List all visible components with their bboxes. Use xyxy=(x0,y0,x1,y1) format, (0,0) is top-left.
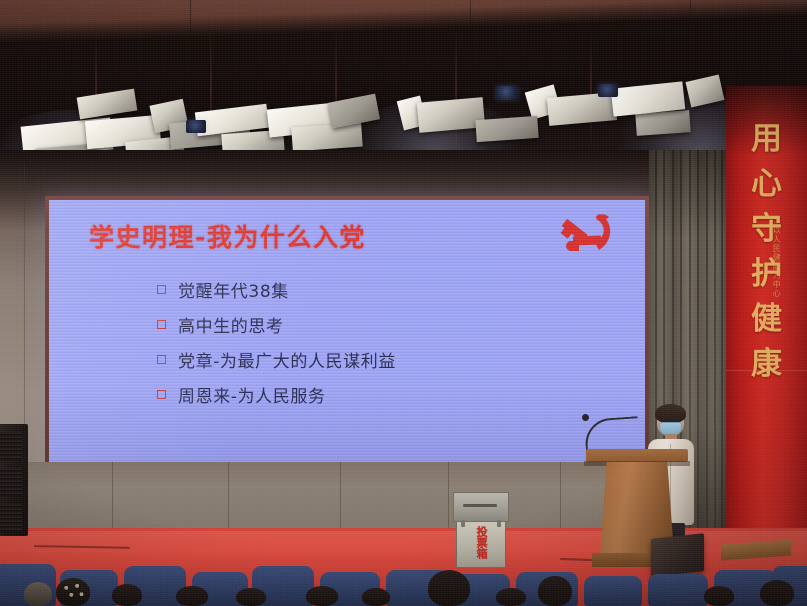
audience-head xyxy=(306,586,338,606)
audience-head xyxy=(362,588,390,606)
list-item: 觉醒年代38集 xyxy=(157,272,396,307)
ceiling-spotlight xyxy=(186,120,206,133)
auditorium-photo-scene: 学史明理-我为什么入党 觉醒年代 xyxy=(0,0,807,606)
list-item: 高中生的思考 xyxy=(157,307,396,342)
bullet-label: 周恩来-为人民服务 xyxy=(178,382,326,407)
slide-bullet-list: 觉醒年代38集 高中生的思考 党章-为最广大的人民谋利益 周恩来-为人民服务 xyxy=(157,272,396,412)
square-bullet-icon xyxy=(157,390,166,399)
auditorium-seat xyxy=(584,576,642,606)
banner-glyph: 健 xyxy=(751,304,782,335)
ceiling-panel xyxy=(635,110,690,136)
microphone-head xyxy=(582,414,589,421)
led-presentation-screen: 学史明理-我为什么入党 觉醒年代 xyxy=(45,196,649,468)
bullet-label: 高中生的思考 xyxy=(178,312,284,337)
audience-head xyxy=(496,588,526,606)
slide-title: 学史明理-我为什么入党 xyxy=(89,218,366,254)
ceiling-panel xyxy=(475,116,538,142)
audience-head xyxy=(112,584,142,606)
ballot-box-label: 投票箱 xyxy=(475,526,487,559)
ballot-slot xyxy=(463,504,497,507)
audience-head xyxy=(704,586,734,606)
cpc-hammer-sickle-emblem xyxy=(555,210,621,262)
audience-head xyxy=(236,588,266,606)
ceiling-panel xyxy=(547,92,617,126)
banner-glyph: 心 xyxy=(751,169,782,200)
list-item: 周恩来-为人民服务 xyxy=(157,377,396,412)
audience-head xyxy=(428,570,470,606)
pa-speaker-stack xyxy=(0,424,28,536)
square-bullet-icon xyxy=(157,355,166,364)
banner-glyph: 用 xyxy=(751,124,782,155)
auditorium-seat xyxy=(648,574,708,606)
square-bullet-icon xyxy=(157,320,166,329)
banner-glyph-column: 用 心 守 护 健 康 xyxy=(726,124,807,394)
audience-row xyxy=(0,556,807,606)
banner-subtext: 以人民健康为中心 xyxy=(772,226,781,298)
audience-head xyxy=(760,580,794,606)
red-calligraphy-banner: 用 心 守 护 健 康 以人民健康为中心 xyxy=(726,86,807,558)
slide-surface: 学史明理-我为什么入党 觉醒年代 xyxy=(49,200,645,464)
audience-head xyxy=(24,582,52,606)
audience-head xyxy=(56,578,90,606)
presenter-hair xyxy=(655,404,686,423)
bullet-label: 党章-为最广大的人民谋利益 xyxy=(178,347,396,372)
ballot-box-lid xyxy=(453,492,509,522)
audience-head xyxy=(176,586,208,606)
ceiling-spotlight xyxy=(598,84,618,97)
banner-glyph: 康 xyxy=(751,349,782,380)
audience-head xyxy=(538,576,572,606)
ceiling-panel xyxy=(291,123,363,152)
list-item: 党章-为最广大的人民谋利益 xyxy=(157,342,396,377)
square-bullet-icon xyxy=(157,285,166,294)
bullet-label: 觉醒年代38集 xyxy=(178,277,289,302)
ceiling-spotlight xyxy=(496,86,518,100)
